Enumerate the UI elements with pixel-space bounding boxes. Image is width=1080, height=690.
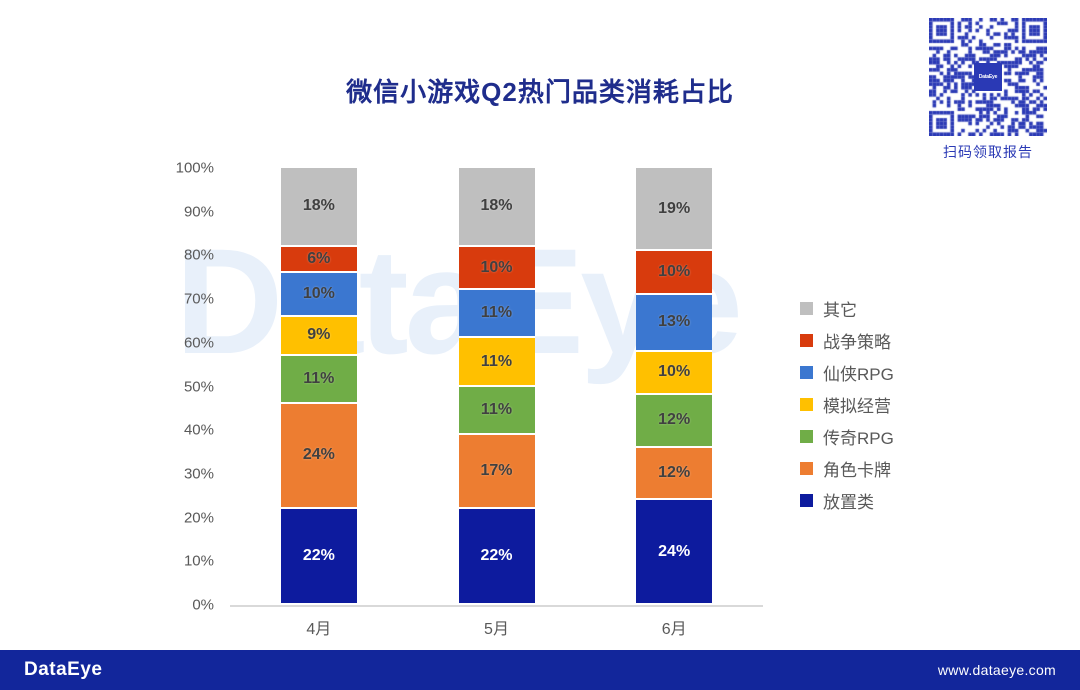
slide-canvas: DataEye 扫码领取报告 微信小游戏Q2热门品类消耗占比 DataEye 1… (0, 0, 1080, 690)
bar-segment[interactable]: 12% (636, 448, 712, 500)
bar-segment-label: 12% (658, 464, 690, 482)
bar-segment-label: 11% (481, 401, 512, 419)
bar-segment[interactable]: 9% (281, 317, 357, 356)
bar-segment-label: 24% (658, 543, 690, 561)
bar-segment-label: 19% (658, 200, 690, 218)
legend-swatch-icon (800, 302, 813, 315)
bar-segment-label: 10% (658, 363, 690, 381)
bar-segment[interactable]: 17% (459, 435, 535, 509)
bar-segment[interactable]: 11% (459, 387, 535, 435)
legend-item[interactable]: 模拟经营 (800, 388, 980, 420)
chart-legend: 其它战争策略仙侠RPG模拟经营传奇RPG角色卡牌放置类 (800, 292, 980, 516)
legend-item[interactable]: 其它 (800, 292, 980, 324)
footer-bar: DataEye www.dataeye.com (0, 650, 1080, 690)
y-axis-tick: 60% (184, 334, 214, 351)
legend-label: 角色卡牌 (823, 456, 891, 481)
bar-segment-label: 22% (303, 547, 335, 565)
y-axis-tick: 30% (184, 465, 214, 482)
bar-segment[interactable]: 11% (459, 290, 535, 338)
bar-column[interactable]: 24%12%12%10%13%10%19% (636, 168, 712, 605)
bar-segment-label: 10% (480, 259, 512, 277)
bar-segment-label: 6% (307, 250, 330, 268)
legend-swatch-icon (800, 366, 813, 379)
bar-segment[interactable]: 22% (281, 509, 357, 605)
bar-segment-label: 10% (303, 285, 335, 303)
legend-label: 战争策略 (823, 328, 891, 353)
bar-segment[interactable]: 18% (281, 168, 357, 247)
y-axis-tick: 40% (184, 422, 214, 439)
bar-column[interactable]: 22%24%11%9%10%6%18% (281, 168, 357, 605)
bar-segment[interactable]: 13% (636, 295, 712, 352)
bar-segment-label: 11% (481, 304, 512, 322)
bar-segment-label: 11% (481, 353, 512, 371)
legend-item[interactable]: 角色卡牌 (800, 452, 980, 484)
x-axis-tick: 5月 (459, 615, 535, 639)
bar-segment[interactable]: 10% (281, 273, 357, 317)
footer-url[interactable]: www.dataeye.com (938, 662, 1056, 678)
y-axis-tick: 20% (184, 509, 214, 526)
bar-segment[interactable]: 11% (281, 356, 357, 404)
x-axis-tick: 4月 (281, 615, 357, 639)
x-axis-labels: 4月5月6月 (230, 615, 763, 645)
chart-plot-area: 100%90%80%70%60%50%40%30%20%10%0% 22%24%… (170, 168, 770, 608)
bar-segment[interactable]: 18% (459, 168, 535, 247)
legend-swatch-icon (800, 430, 813, 443)
bar-segment-label: 17% (480, 462, 512, 480)
bar-segment-label: 22% (480, 547, 512, 565)
bar-segment[interactable]: 19% (636, 168, 712, 251)
bar-segment-label: 9% (307, 326, 330, 344)
y-axis-tick: 100% (176, 160, 214, 177)
bar-segment[interactable]: 24% (281, 404, 357, 509)
legend-swatch-icon (800, 462, 813, 475)
chart-title: 微信小游戏Q2热门品类消耗占比 (0, 72, 1080, 109)
bar-column[interactable]: 22%17%11%11%11%10%18% (459, 168, 535, 605)
bar-segment-label: 18% (303, 197, 335, 215)
bar-segment-label: 12% (658, 411, 690, 429)
y-axis-tick: 10% (184, 553, 214, 570)
y-axis: 100%90%80%70%60%50%40%30%20%10%0% (170, 168, 222, 605)
legend-label: 放置类 (823, 488, 874, 513)
legend-label: 其它 (823, 296, 857, 321)
bar-segment[interactable]: 10% (459, 247, 535, 291)
stacked-bars: 22%24%11%9%10%6%18%22%17%11%11%11%10%18%… (230, 168, 763, 605)
legend-swatch-icon (800, 398, 813, 411)
y-axis-tick: 90% (184, 203, 214, 220)
bar-segment[interactable]: 12% (636, 395, 712, 447)
bar-segment[interactable]: 22% (459, 509, 535, 605)
legend-swatch-icon (800, 494, 813, 507)
bar-segment[interactable]: 10% (636, 352, 712, 396)
legend-item[interactable]: 传奇RPG (800, 420, 980, 452)
bar-segment-label: 10% (658, 263, 690, 281)
qr-caption: 扫码领取报告 (920, 142, 1056, 162)
legend-label: 模拟经营 (823, 392, 891, 417)
legend-item[interactable]: 放置类 (800, 484, 980, 516)
bar-segment-label: 24% (303, 446, 335, 464)
x-axis-tick: 6月 (636, 615, 712, 639)
bar-segment-label: 11% (303, 370, 334, 388)
bar-segment[interactable]: 11% (459, 338, 535, 386)
bar-segment[interactable]: 24% (636, 500, 712, 605)
y-axis-tick: 70% (184, 291, 214, 308)
legend-label: 传奇RPG (823, 424, 894, 449)
legend-swatch-icon (800, 334, 813, 347)
bar-segment[interactable]: 6% (281, 247, 357, 273)
bar-segment-label: 13% (658, 313, 690, 331)
y-axis-tick: 80% (184, 247, 214, 264)
bar-segment-label: 18% (480, 197, 512, 215)
legend-item[interactable]: 战争策略 (800, 324, 980, 356)
legend-item[interactable]: 仙侠RPG (800, 356, 980, 388)
y-axis-tick: 0% (192, 597, 214, 614)
bar-segment[interactable]: 10% (636, 251, 712, 295)
x-axis-line (230, 605, 763, 607)
y-axis-tick: 50% (184, 378, 214, 395)
legend-label: 仙侠RPG (823, 360, 894, 385)
footer-logo: DataEye (24, 659, 103, 681)
